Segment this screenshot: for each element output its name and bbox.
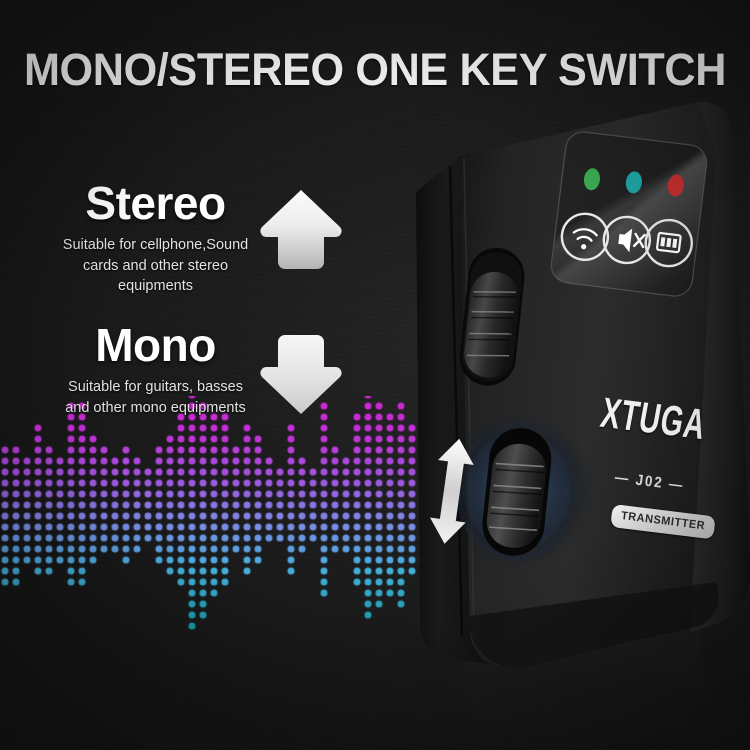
control-panel: [549, 130, 708, 298]
product-marketing-image: MONO/STEREO ONE KEY SWITCH Stereo Suitab…: [0, 0, 750, 750]
page-title: MONO/STEREO ONE KEY SWITCH: [15, 44, 735, 96]
feature-subtitle-stereo: Suitable for cellphone,Sound cards and o…: [48, 235, 263, 297]
arrow-up-icon: [258, 186, 344, 274]
arrow-down-icon: [258, 330, 344, 418]
feature-title-mono: Mono: [48, 322, 263, 368]
feature-block-mono: Mono Suitable for guitars, basses and ot…: [48, 322, 263, 418]
feature-title-stereo: Stereo: [48, 180, 263, 226]
feature-block-stereo: Stereo Suitable for cellphone,Sound card…: [48, 180, 263, 297]
feature-subtitle-mono: Suitable for guitars, basses and other m…: [48, 377, 263, 418]
